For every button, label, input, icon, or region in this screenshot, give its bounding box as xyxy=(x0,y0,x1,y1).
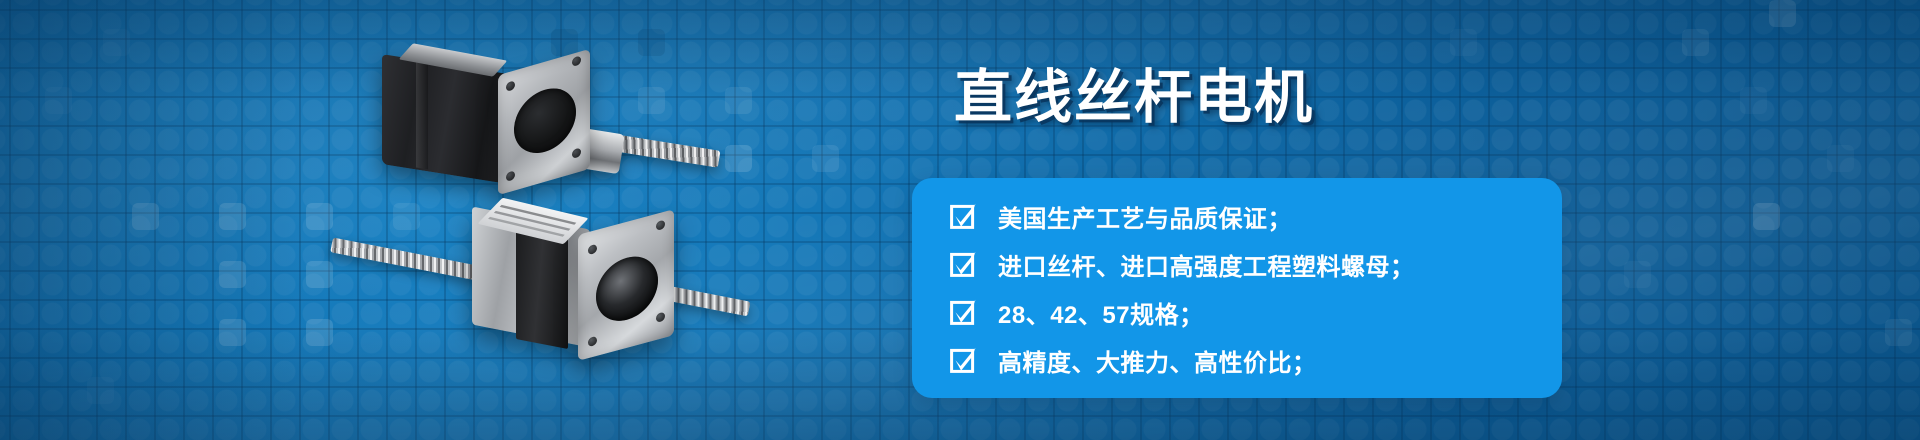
feature-list-item: 进口丝杆、进口高强度工程塑料螺母； xyxy=(912,240,1562,288)
feature-text: 28、42、57规格； xyxy=(998,295,1204,330)
product-images xyxy=(300,0,960,440)
motor-front-flange xyxy=(578,209,674,361)
feature-text: 美国生产工艺与品质保证； xyxy=(998,199,1292,234)
banner-content: 直线丝杆电机 美国生产工艺与品质保证； xyxy=(912,0,1612,440)
check-square-icon xyxy=(950,203,976,229)
feature-highlight-card: 美国生产工艺与品质保证； 进口丝杆、进口高强度工程塑料螺母； xyxy=(912,178,1562,398)
product-banner: 直线丝杆电机 美国生产工艺与品质保证； xyxy=(0,0,1920,440)
feature-list-item: 美国生产工艺与品质保证； xyxy=(912,192,1562,240)
silver-stepper-motor-with-lead-screw xyxy=(320,196,740,366)
motor-stator-stack xyxy=(516,227,568,349)
feature-list-item: 高精度、大推力、高性价比； xyxy=(912,336,1562,384)
check-square-icon xyxy=(950,299,976,325)
banner-title: 直线丝杆电机 xyxy=(954,50,1314,134)
feature-list: 美国生产工艺与品质保证； 进口丝杆、进口高强度工程塑料螺母； xyxy=(912,192,1562,384)
feature-list-item: 28、42、57规格； xyxy=(912,288,1562,336)
check-square-icon xyxy=(950,347,976,373)
black-stepper-motor-with-lead-screw xyxy=(360,48,720,198)
feature-text: 高精度、大推力、高性价比； xyxy=(998,343,1317,378)
motor-front-flange xyxy=(498,49,590,195)
feature-text: 进口丝杆、进口高强度工程塑料螺母； xyxy=(998,247,1415,282)
check-square-icon xyxy=(950,251,976,277)
